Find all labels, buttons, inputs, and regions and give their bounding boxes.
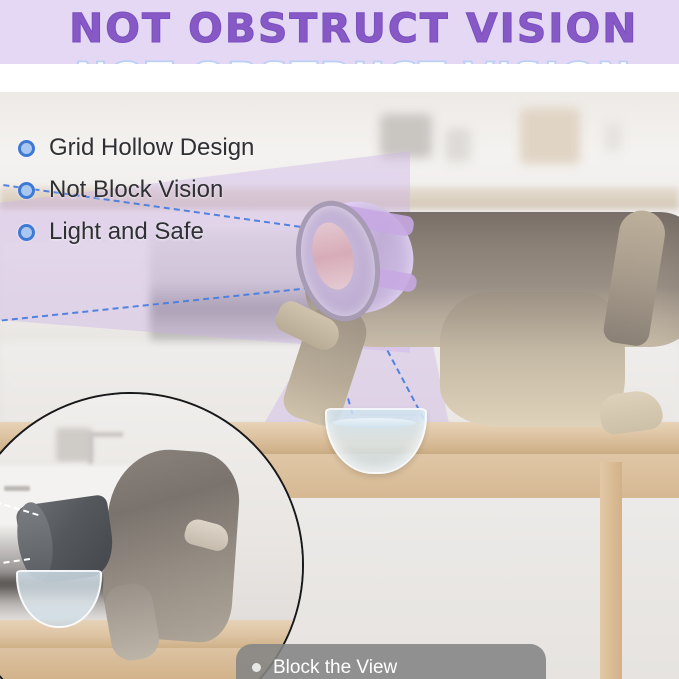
cat-hindquarters [440,292,625,427]
drawbacks-callout: Block the View Easy to Bump into Things … [236,644,546,679]
counter-item-jar [604,122,622,152]
list-item: Not Block Vision [18,176,254,204]
bowl-water-surface [332,418,416,428]
list-item: Grid Hollow Design [18,134,254,162]
inset-cabinet-handle [4,486,30,491]
ring-bullet-icon [18,224,35,241]
inset-counter-pot [56,428,92,462]
table-leg-side [600,462,622,679]
benefit-label: Grid Hollow Design [49,134,254,162]
counter-item-basket [520,108,580,164]
ring-bullet-icon [18,140,35,157]
list-item: Light and Safe [18,218,254,246]
counter-item-bottle [445,128,471,162]
ring-bullet-icon [18,182,35,199]
header-white-strip [0,64,679,92]
dot-bullet-icon [252,663,261,672]
main-product-photo: Grid Hollow Design Not Block Vision Ligh… [0,92,679,679]
drawback-label: Block the View [273,657,397,679]
comparison-inset-photo [0,392,304,679]
benefit-label: Not Block Vision [49,176,223,204]
list-item: Block the View [252,652,546,679]
benefit-label: Light and Safe [49,218,204,246]
page-title: NOT OBSTRUCT VISION [0,6,679,52]
benefits-list: Grid Hollow Design Not Block Vision Ligh… [18,134,254,260]
counter-item-pot [380,114,432,158]
product-infographic: NOT OBSTRUCT VISION NOT OBSTRUCT VISION [0,0,679,679]
